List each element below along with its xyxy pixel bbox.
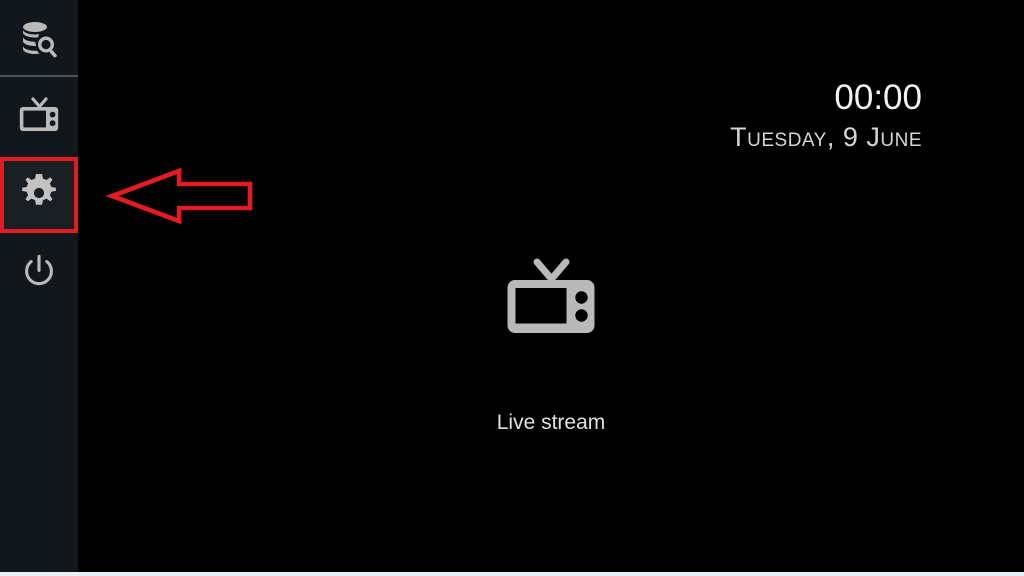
live-stream-label: Live stream	[497, 411, 606, 435]
sidebar-item-tv[interactable]	[0, 79, 78, 155]
sidebar-item-settings[interactable]	[0, 157, 78, 233]
database-search-icon	[17, 16, 61, 65]
live-stream-tile[interactable]: Live stream	[0, 256, 1024, 435]
sidebar-divider	[0, 75, 78, 77]
bottom-strip	[0, 572, 1024, 576]
gear-icon	[20, 174, 58, 217]
callout-arrow-icon	[104, 166, 256, 226]
app-root: 00:00 Tuesday, 9 June Live stream	[0, 0, 1024, 576]
sidebar-item-search[interactable]	[0, 2, 78, 78]
clock-time: 00:00	[730, 78, 922, 118]
tv-icon	[19, 96, 59, 139]
clock-date: Tuesday, 9 June	[730, 122, 922, 152]
clock: 00:00 Tuesday, 9 June	[730, 78, 922, 152]
tv-icon	[506, 256, 596, 343]
